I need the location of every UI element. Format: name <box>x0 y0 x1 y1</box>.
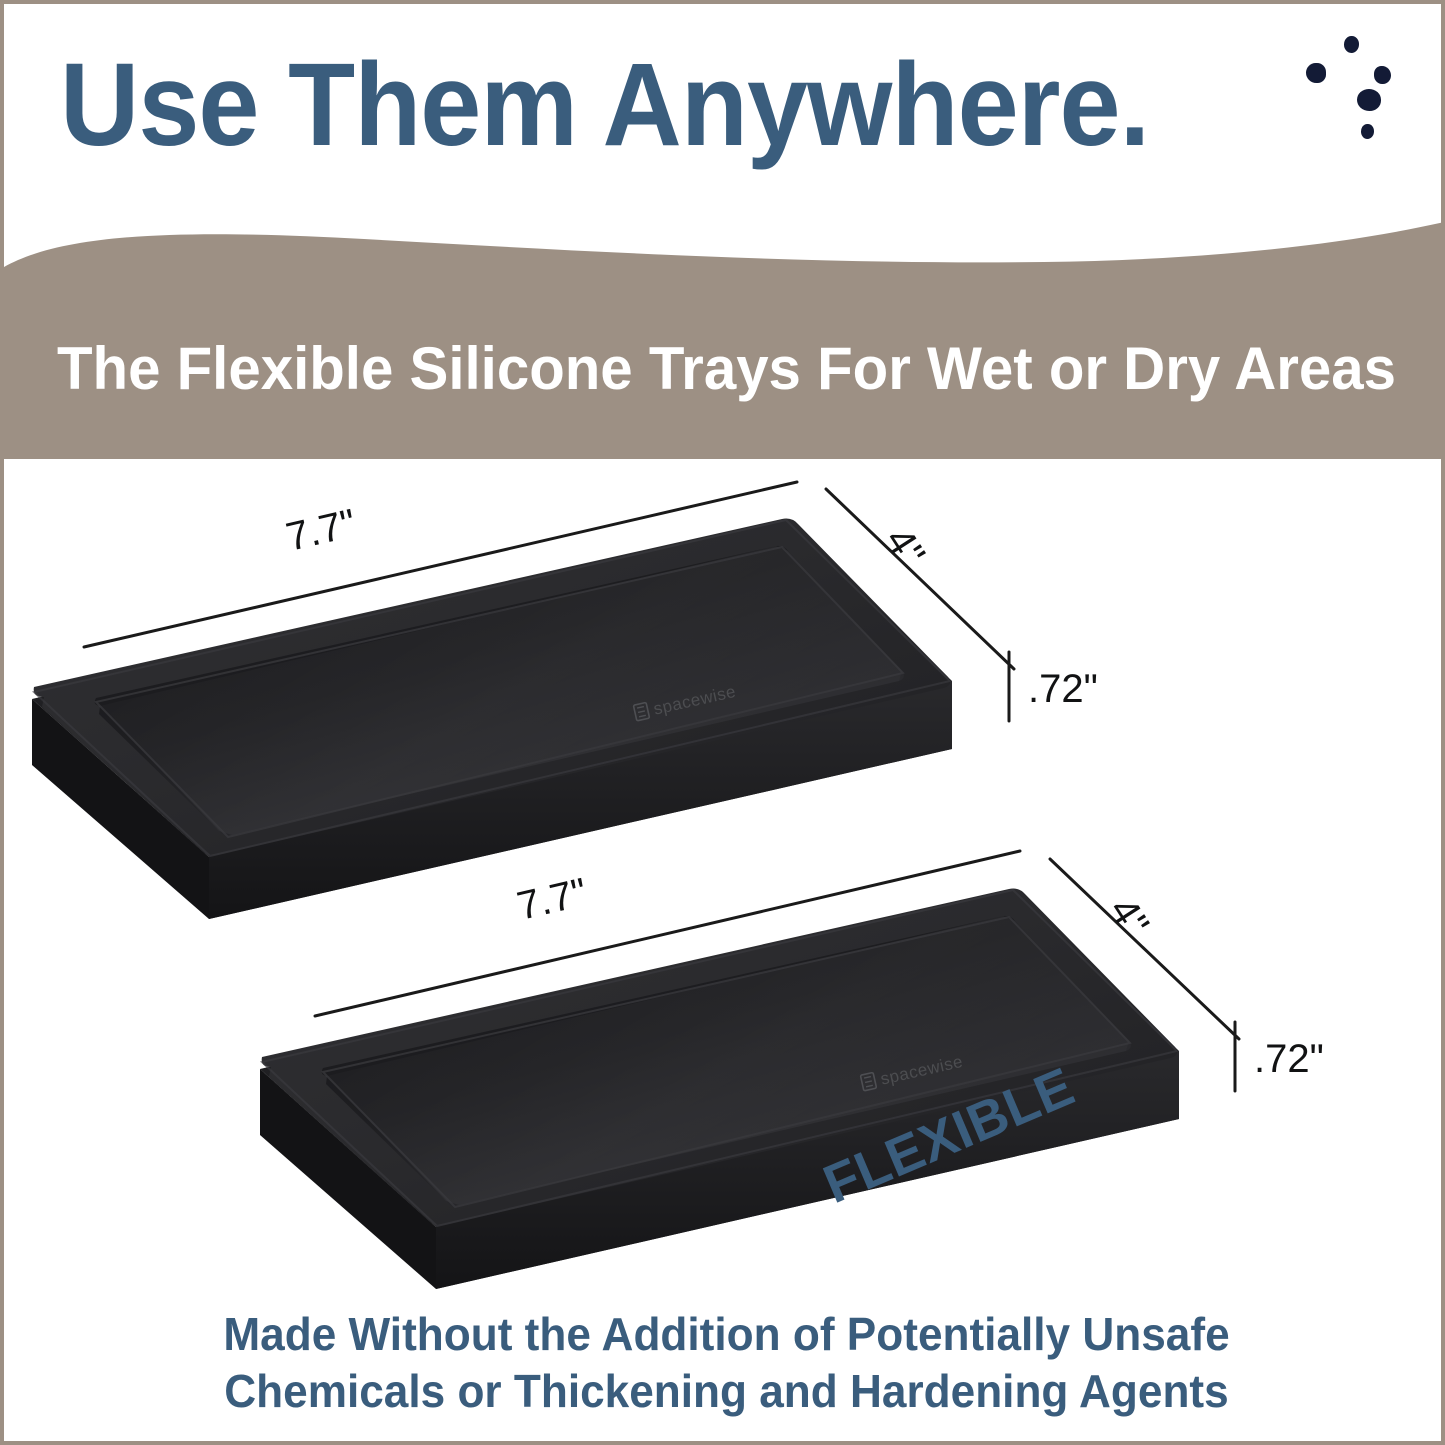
dimension-label-width-top: 4" <box>876 520 933 575</box>
tray-bottom: spacewise 7.7" 4" .72" <box>260 851 1324 1289</box>
dot-4 <box>1357 89 1381 111</box>
claim-line-1: Made Without the Addition of Potentially… <box>33 1306 1420 1363</box>
dimension-label-length-top: 7.7" <box>282 501 360 560</box>
claim-line-2: Chemicals or Thickening and Hardening Ag… <box>33 1363 1420 1420</box>
tray-top: spacewise 7.7" 4" .72" <box>32 482 1098 919</box>
page-title: Use Them Anywhere. <box>60 46 1149 164</box>
infographic-canvas: Use Them Anywhere. The Flexible Silicone… <box>0 0 1445 1445</box>
dimension-label-height-top: .72" <box>1028 667 1098 711</box>
dot-2 <box>1306 63 1326 83</box>
banner: The Flexible Silicone Trays For Wet or D… <box>4 209 1445 459</box>
claim-text: Made Without the Addition of Potentially… <box>33 1306 1420 1420</box>
dimension-label-width-bottom: 4" <box>1100 890 1157 945</box>
dot-3 <box>1374 66 1391 84</box>
dimension-label-height-bottom: .72" <box>1254 1037 1324 1081</box>
banner-subtitle: The Flexible Silicone Trays For Wet or D… <box>26 334 1428 403</box>
decorative-dot-cluster <box>1304 28 1434 188</box>
product-illustration: spacewise 7.7" 4" .72" <box>4 459 1445 1309</box>
dot-1 <box>1344 36 1359 53</box>
dimension-label-length-bottom: 7.7" <box>513 870 591 929</box>
dot-5 <box>1361 124 1374 139</box>
